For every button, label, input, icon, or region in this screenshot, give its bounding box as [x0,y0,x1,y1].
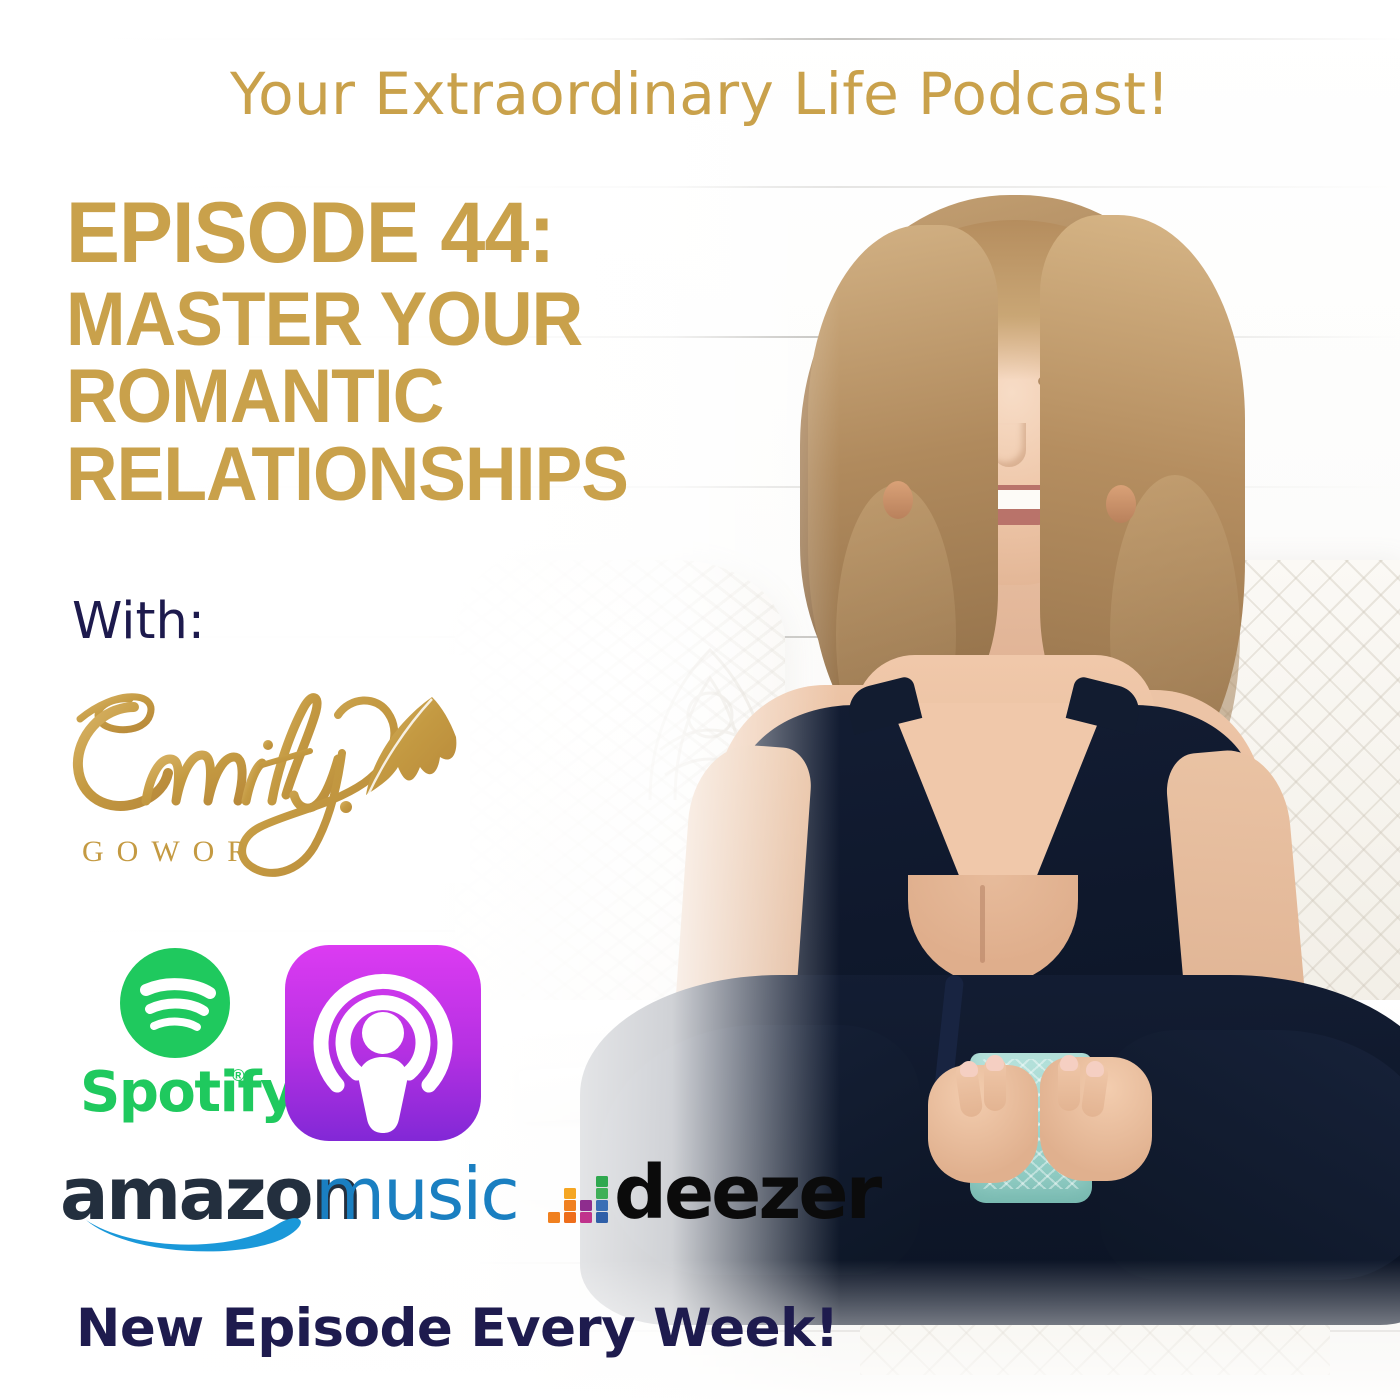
spotify-wordmark[interactable]: Spotify [80,1060,280,1125]
feather-quill-icon [366,697,456,795]
music-wordmark[interactable]: music [315,1152,518,1236]
with-label: With: [72,592,205,651]
new-episode-cadence: New Episode Every Week! [76,1298,839,1359]
platform-badge-deezer[interactable]: deezer [548,1160,848,1250]
deezer-equalizer-icon [548,1166,610,1226]
podcast-title: Your Extraordinary Life Podcast! [0,60,1400,128]
spotify-icon[interactable] [120,948,230,1058]
platform-badge-apple-podcasts[interactable] [285,945,481,1141]
emily-gowor-logo-svg: GOWOR [46,655,470,883]
amazon-smile-icon [82,1202,307,1254]
episode-title-line-1: EPISODE 44: [66,193,752,274]
spotify-trademark: ® [232,1066,245,1086]
episode-title-block: EPISODE 44: MASTER YOUR ROMANTIC RELATIO… [66,193,796,510]
logo-surname: GOWOR [82,835,260,868]
episode-title-line-4: RELATIONSHIPS [66,439,752,510]
emily-gowor-logo: GOWOR [46,655,470,883]
apple-podcasts-icon[interactable] [285,945,481,1141]
podcast-cover-art: Your Extraordinary Life Podcast! EPISODE… [0,0,1400,1400]
episode-title-line-3: ROMANTIC [66,361,752,432]
deezer-wordmark[interactable]: deezer [614,1150,879,1236]
platform-badge-spotify[interactable]: Spotify ® [84,948,266,1138]
platform-badge-amazon-music[interactable]: amazon music [60,1152,530,1252]
episode-title-line-2: MASTER YOUR [66,284,752,355]
